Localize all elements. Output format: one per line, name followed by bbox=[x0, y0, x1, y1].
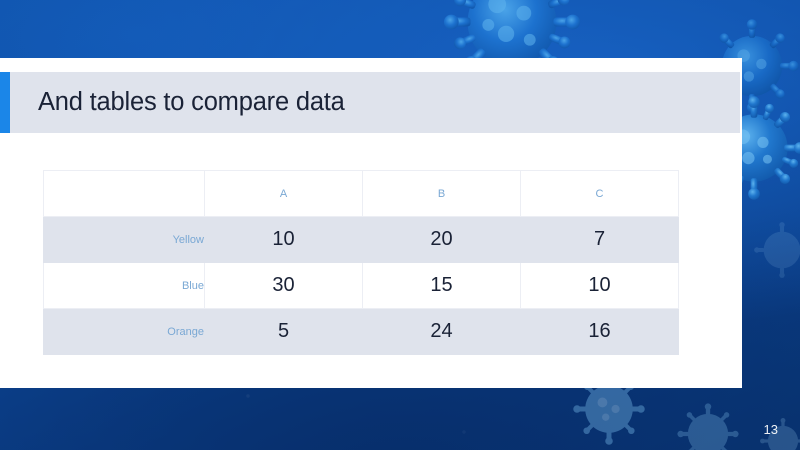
table-header: A B C bbox=[44, 171, 679, 217]
cell-blue-b: 15 bbox=[363, 263, 521, 309]
cell-blue-c: 10 bbox=[521, 263, 679, 309]
table-row: Blue 30 15 10 bbox=[44, 263, 679, 309]
slide-page-number: 13 bbox=[764, 422, 778, 437]
cell-orange-b: 24 bbox=[363, 309, 521, 355]
table-header-row: A B C bbox=[44, 171, 679, 217]
cell-blue-a: 30 bbox=[205, 263, 363, 309]
cell-yellow-b: 20 bbox=[363, 217, 521, 263]
comparison-table-wrapper: A B C Yellow 10 20 7 Blue 30 15 10 bbox=[43, 170, 678, 355]
table-row: Orange 5 24 16 bbox=[44, 309, 679, 355]
title-accent-bar bbox=[0, 72, 10, 133]
table-row: Yellow 10 20 7 bbox=[44, 217, 679, 263]
coronavirus-particle-icon bbox=[672, 398, 744, 450]
row-label-blue: Blue bbox=[44, 263, 205, 309]
row-label-yellow: Yellow bbox=[44, 217, 205, 263]
table-body: Yellow 10 20 7 Blue 30 15 10 Orange 5 24… bbox=[44, 217, 679, 355]
slide-title-band: And tables to compare data bbox=[0, 72, 740, 133]
page-title: And tables to compare data bbox=[38, 88, 345, 117]
column-header-a: A bbox=[205, 171, 363, 217]
row-label-orange: Orange bbox=[44, 309, 205, 355]
table-corner-cell bbox=[44, 171, 205, 217]
presentation-slide: And tables to compare data A B C Yellow … bbox=[0, 0, 800, 450]
cell-yellow-c: 7 bbox=[521, 217, 679, 263]
coronavirus-particle-icon bbox=[748, 216, 800, 284]
comparison-table: A B C Yellow 10 20 7 Blue 30 15 10 bbox=[43, 170, 679, 355]
column-header-c: C bbox=[521, 171, 679, 217]
column-header-b: B bbox=[363, 171, 521, 217]
cell-orange-c: 16 bbox=[521, 309, 679, 355]
cell-yellow-a: 10 bbox=[205, 217, 363, 263]
cell-orange-a: 5 bbox=[205, 309, 363, 355]
